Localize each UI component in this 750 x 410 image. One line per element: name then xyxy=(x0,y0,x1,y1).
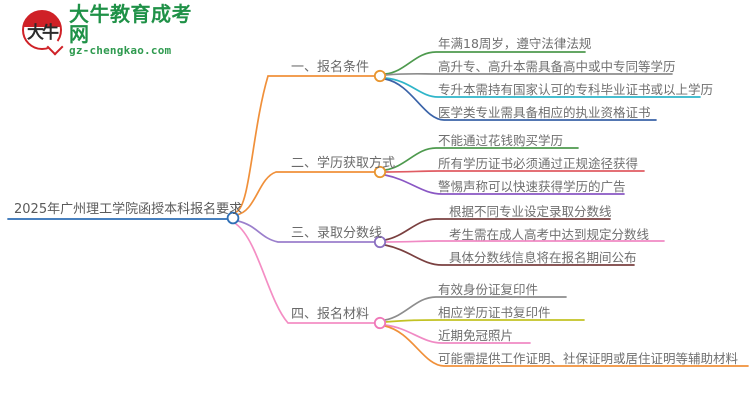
branch-label-4[interactable]: 四、报名材料 xyxy=(291,308,369,321)
leaf-label-3-3[interactable]: 具体分数线信息将在报名期间公布 xyxy=(449,252,637,265)
leaf-label-2-2[interactable]: 所有学历证书必须通过正规途径获得 xyxy=(438,158,638,171)
leaf-label-1-3[interactable]: 专升本需持有国家认可的专科毕业证书或以上学历 xyxy=(438,84,713,97)
leaf-label-4-3[interactable]: 近期免冠照片 xyxy=(438,330,513,343)
branch-node-dot-4[interactable] xyxy=(375,318,385,328)
leaf-label-1-2[interactable]: 高升专、高升本需具备高中或中专同等学历 xyxy=(438,61,676,74)
leaf-label-3-1[interactable]: 根据不同专业设定录取分数线 xyxy=(449,206,612,219)
leaf-label-1-4[interactable]: 医学类专业需具备相应的执业资格证书 xyxy=(438,107,651,120)
mindmap-canvas: 大牛 大牛教育成考网 gz-chengkao.com xyxy=(0,0,750,410)
root-label[interactable]: 2025年广州理工学院函授本科报名要求 xyxy=(14,203,242,216)
leaf-label-4-2[interactable]: 相应学历证书复印件 xyxy=(438,307,551,320)
leaf-label-2-1[interactable]: 不能通过花钱购买学历 xyxy=(438,135,563,148)
leaf-label-4-4[interactable]: 可能需提供工作证明、社保证明或居住证明等辅助材料 xyxy=(438,353,738,366)
branch-node-dot-1[interactable] xyxy=(375,71,385,81)
branch-label-1[interactable]: 一、报名条件 xyxy=(291,61,369,74)
leaf-label-4-1[interactable]: 有效身份证复印件 xyxy=(438,284,538,297)
branch-label-3[interactable]: 三、录取分数线 xyxy=(291,227,382,240)
branch-label-2[interactable]: 二、学历获取方式 xyxy=(291,157,395,170)
leaf-label-3-2[interactable]: 考生需在成人高考中达到规定分数线 xyxy=(449,229,649,242)
leaf-label-2-3[interactable]: 警惕声称可以快速获得学历的广告 xyxy=(438,181,626,194)
leaf-label-1-1[interactable]: 年满18周岁，遵守法律法规 xyxy=(438,38,591,51)
